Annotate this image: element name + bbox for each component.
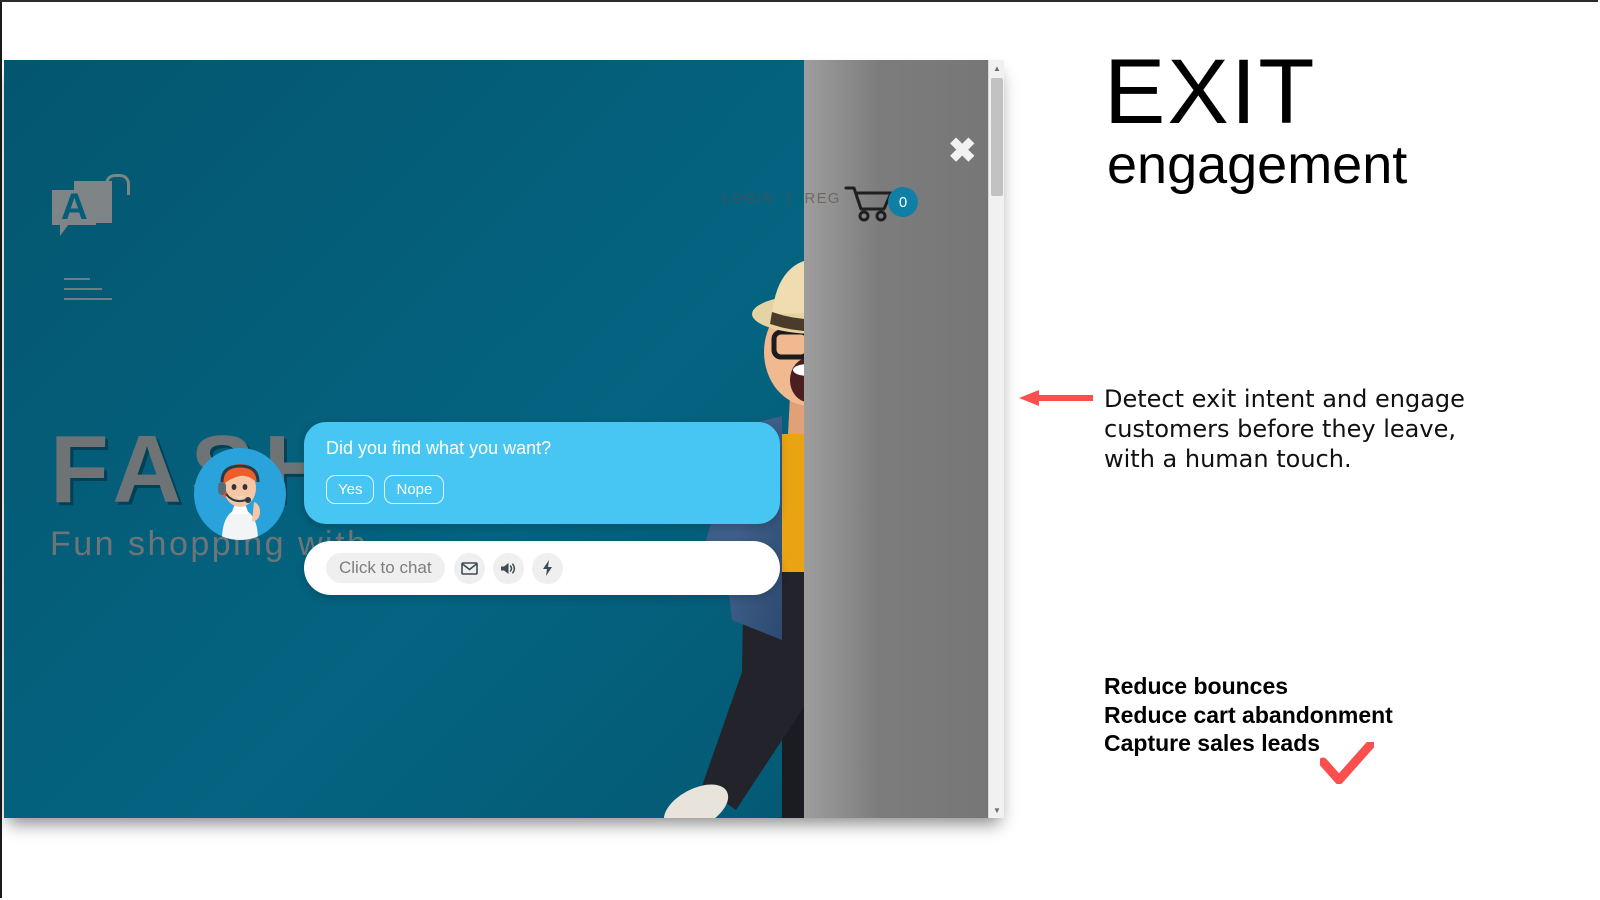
page-top-border [0,0,1598,2]
cart-count-badge: 0 [888,187,918,217]
bag-handle-icon [105,174,130,195]
register-link[interactable]: REG [805,190,841,207]
chat-input-bar[interactable]: Click to chat [304,541,780,595]
hamburger-line [64,278,90,280]
login-link[interactable]: LOGIN [722,190,775,207]
page-subtitle: engagement [1107,137,1407,193]
exit-overlay-gradient [804,60,990,818]
sound-icon[interactable] [493,553,524,584]
chat-question-text: Did you find what you want? [326,438,551,459]
benefit-item: Reduce bounces [1104,672,1393,701]
page-left-border [0,0,2,898]
page-title: EXIT [1104,46,1316,138]
browser-window: A LOGIN | REG 0 FASHION Fun shopping wit… [4,60,1004,818]
hamburger-menu-icon[interactable] [64,278,112,308]
logo-letter: A [61,188,88,225]
account-links: LOGIN | REG [722,190,841,207]
email-icon[interactable] [454,553,485,584]
reply-yes-button[interactable]: Yes [326,475,374,504]
scrollbar-thumb[interactable] [991,78,1003,196]
chat-question-bubble: Did you find what you want? Yes Nope [304,422,780,524]
chat-reply-options: Yes Nope [326,475,444,504]
hamburger-line [64,288,102,290]
support-agent-avatar-icon [194,448,286,540]
scroll-down-arrow-icon[interactable]: ▼ [989,802,1004,818]
cart-widget[interactable]: 0 [844,182,918,222]
left-arrow-icon [1019,390,1093,406]
close-icon[interactable]: ✖ [948,134,977,168]
click-to-chat-button[interactable]: Click to chat [326,553,445,583]
description-note: Detect exit intent and engage customers … [1104,384,1504,474]
check-mark-icon [1320,742,1374,784]
reply-nope-button[interactable]: Nope [384,475,444,504]
lightning-bolt-icon[interactable] [532,553,563,584]
scroll-up-arrow-icon[interactable]: ▲ [989,60,1004,76]
benefit-item: Reduce cart abandonment [1104,701,1393,730]
links-separator: | [787,190,792,207]
vertical-scrollbar[interactable]: ▲ ▼ [988,60,1004,818]
site-logo[interactable]: A [52,175,114,233]
hamburger-line [64,298,112,300]
